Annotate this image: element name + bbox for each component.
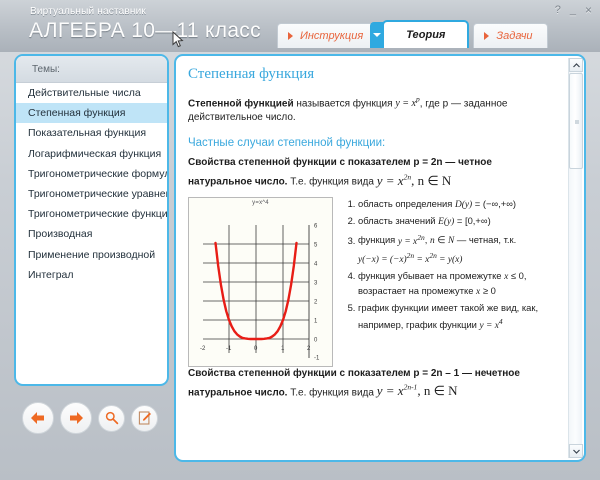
even-case-formula: y = x2n, n ∈ N xyxy=(377,173,452,188)
intro-formula: y = xp xyxy=(395,98,419,109)
sidebar-item-real-numbers[interactable]: Действительные числа xyxy=(16,83,167,103)
tab-theory-label: Теория xyxy=(406,29,445,41)
tab-tasks[interactable]: Задачи xyxy=(473,23,547,48)
chevron-down-icon xyxy=(573,449,580,454)
tab-instruction[interactable]: Инструкция xyxy=(277,23,378,48)
intro-rest: называется функция xyxy=(294,98,396,109)
list-item: функция y = x2n, n ∈ N — четная, т.к. y(… xyxy=(358,230,538,267)
sidebar-item-derivative[interactable]: Производная xyxy=(16,224,167,244)
application-window: Виртуальный наставник АЛГЕБРА 10—11 клас… xyxy=(0,0,600,480)
odd-case-paragraph: Свойства степенной функции с показателем… xyxy=(188,367,558,400)
sidebar-item-trig-functions[interactable]: Тригонометрические функции xyxy=(16,204,167,224)
triangle-right-icon xyxy=(484,32,489,40)
mouse-cursor xyxy=(172,31,184,49)
list-item: область определения D(y) = (−∞,+∞) xyxy=(358,197,538,212)
page-title: Степенная функция xyxy=(188,66,558,83)
svg-text:0: 0 xyxy=(254,346,258,352)
chevron-down-icon[interactable] xyxy=(370,22,384,48)
scrollbar-grip xyxy=(575,120,579,124)
graph-canvas: 6 5 4 3 2 1 0 -1 -2 xyxy=(189,198,332,366)
forward-button[interactable] xyxy=(60,402,92,434)
tab-theory[interactable]: Теория xyxy=(382,20,469,48)
function-graph: y=x^4 xyxy=(188,197,333,367)
svg-text:3: 3 xyxy=(314,280,318,286)
notes-button[interactable] xyxy=(131,405,158,432)
svg-text:-1: -1 xyxy=(226,346,232,352)
tab-tasks-label: Задачи xyxy=(496,30,532,42)
window-controls: ? _ × xyxy=(555,4,592,16)
minimize-icon[interactable]: _ xyxy=(570,5,576,16)
navigation-toolbar xyxy=(22,402,158,434)
properties-list: область определения D(y) = (−∞,+∞) облас… xyxy=(341,197,538,367)
sidebar-item-logarithmic-function[interactable]: Логарифмическая функция xyxy=(16,144,167,164)
app-title: АЛГЕБРА 10—11 класс xyxy=(29,19,261,43)
list-item: график функции имеет такой же вид, как,н… xyxy=(358,301,538,333)
scroll-down-button[interactable] xyxy=(569,444,583,458)
even-case-paragraph: Свойства степенной функции с показателем… xyxy=(188,156,558,189)
section-subheading: Частные случаи степенной функции: xyxy=(188,137,558,149)
title-bar: Виртуальный наставник АЛГЕБРА 10—11 клас… xyxy=(0,0,600,52)
graph-title: y=x^4 xyxy=(189,200,332,206)
svg-text:2: 2 xyxy=(307,346,311,352)
sidebar-item-trig-formulas[interactable]: Тригонометрические формулы xyxy=(16,164,167,184)
chevron-up-icon xyxy=(573,63,580,68)
odd-case-rest: Т.е. функция вида xyxy=(287,387,376,398)
tab-instruction-label: Инструкция xyxy=(300,30,363,42)
content-scrollbar[interactable] xyxy=(568,58,582,458)
topic-list: Действительные числа Степенная функция П… xyxy=(16,83,167,285)
svg-text:6: 6 xyxy=(314,223,318,229)
sidebar-item-trig-equations[interactable]: Тригонометрические уравнения xyxy=(16,184,167,204)
svg-text:0: 0 xyxy=(314,337,318,343)
sidebar-item-derivative-application[interactable]: Применение производной xyxy=(16,245,167,265)
intro-term: Степенной функцией xyxy=(188,98,294,109)
close-icon[interactable]: × xyxy=(585,4,592,16)
domain-formula: D(y) xyxy=(455,200,472,210)
notepad-pencil-icon xyxy=(137,410,153,426)
sidebar-item-power-function[interactable]: Степенная функция xyxy=(16,103,167,123)
scroll-up-button[interactable] xyxy=(569,58,583,72)
search-icon xyxy=(104,410,120,426)
back-button[interactable] xyxy=(22,402,54,434)
main-stage: Темы: Действительные числа Степенная фун… xyxy=(8,50,592,466)
sidebar-item-integral[interactable]: Интеграл xyxy=(16,265,167,285)
help-icon[interactable]: ? xyxy=(555,5,561,16)
tab-bar: Инструкция Теория Задачи xyxy=(277,22,552,48)
search-button[interactable] xyxy=(98,405,125,432)
list-item: область значений E(y) = [0,+∞) xyxy=(358,214,538,229)
svg-text:1: 1 xyxy=(281,346,285,352)
list-item: функция убывает на промежутке x ≤ 0,возр… xyxy=(358,269,538,300)
figure-and-properties: y=x^4 xyxy=(188,197,558,367)
svg-text:-1: -1 xyxy=(314,355,320,361)
triangle-right-icon xyxy=(288,32,293,40)
svg-text:5: 5 xyxy=(314,242,318,248)
forward-arrow-icon xyxy=(67,410,85,426)
topics-sidebar: Темы: Действительные числа Степенная фун… xyxy=(14,54,169,386)
app-subtitle: Виртуальный наставник xyxy=(30,6,146,17)
content-pane: Степенная функция Степенной функцией наз… xyxy=(174,54,586,462)
content-scroll-area: Степенная функция Степенной функцией наз… xyxy=(176,56,570,460)
svg-text:4: 4 xyxy=(314,261,318,267)
even-case-rest: Т.е. функция вида xyxy=(287,177,376,188)
sidebar-header: Темы: xyxy=(16,56,167,83)
odd-case-formula: y = x2n-1, n ∈ N xyxy=(377,383,458,398)
sidebar-item-exponential-function[interactable]: Показательная функция xyxy=(16,123,167,143)
svg-text:1: 1 xyxy=(314,318,318,324)
svg-text:-2: -2 xyxy=(200,346,206,352)
range-formula: E(y) xyxy=(438,217,454,227)
svg-text:2: 2 xyxy=(314,299,318,305)
intro-paragraph: Степенной функцией называется функция y … xyxy=(188,93,558,125)
back-arrow-icon xyxy=(29,410,47,426)
scrollbar-thumb[interactable] xyxy=(569,73,583,169)
